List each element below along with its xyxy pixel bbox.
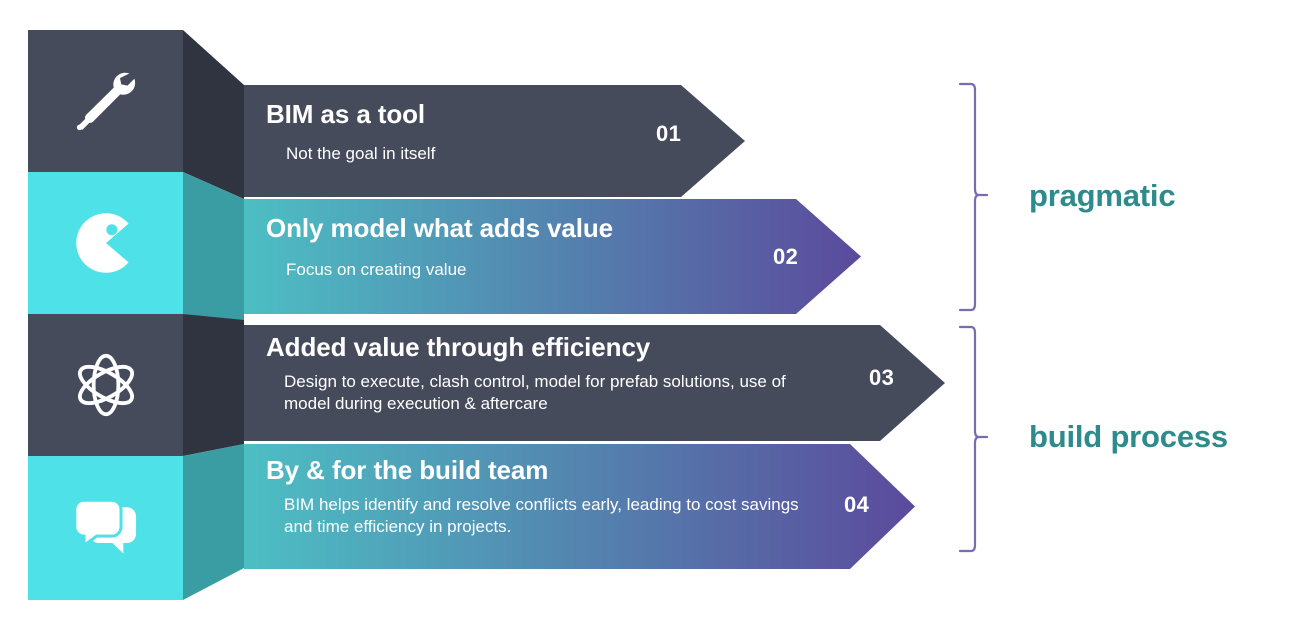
arrow-desc-2: Focus on creating value <box>286 259 686 281</box>
arrow-row-1[interactable]: BIM as a tool Not the goal in itself 01 <box>244 85 745 197</box>
arrow-row-3[interactable]: Added value through efficiency Design to… <box>244 325 945 441</box>
icon-tile-3 <box>28 314 183 456</box>
arrow-number-3: 03 <box>869 365 894 391</box>
arrow-title-2: Only model what adds value <box>266 213 613 244</box>
wedge-4 <box>183 440 244 600</box>
atom-icon <box>70 349 142 421</box>
pacman-icon <box>72 209 140 277</box>
arrow-title-3: Added value through efficiency <box>266 332 650 363</box>
icon-tile-2 <box>28 172 183 314</box>
wedge-3 <box>183 314 244 460</box>
bracket-pragmatic <box>958 82 988 312</box>
arrow-row-4[interactable]: By & for the build team BIM helps identi… <box>244 444 915 569</box>
arrow-title-4: By & for the build team <box>266 455 548 486</box>
arrow-number-2: 02 <box>773 244 798 270</box>
icon-tile-1 <box>28 30 183 172</box>
arrow-number-1: 01 <box>656 121 681 147</box>
arrow-desc-4: BIM helps identify and resolve conflicts… <box>284 494 804 539</box>
icon-tile-4 <box>28 456 183 600</box>
arrow-number-4: 04 <box>844 492 869 518</box>
arrow-title-1: BIM as a tool <box>266 99 425 130</box>
infographic-canvas: BIM as a tool Not the goal in itself 01 … <box>0 0 1290 633</box>
bracket-label-pragmatic: pragmatic <box>1029 178 1175 214</box>
bracket-label-build-process: build process <box>1029 419 1228 455</box>
arrow-row-2[interactable]: Only model what adds value Focus on crea… <box>244 199 861 314</box>
bracket-build-process <box>958 325 988 553</box>
wedge-2 <box>183 172 244 322</box>
arrow-desc-1: Not the goal in itself <box>286 143 646 165</box>
speech-bubbles-icon <box>69 491 143 565</box>
arrow-desc-3: Design to execute, clash control, model … <box>284 371 804 416</box>
tools-icon <box>69 64 143 138</box>
